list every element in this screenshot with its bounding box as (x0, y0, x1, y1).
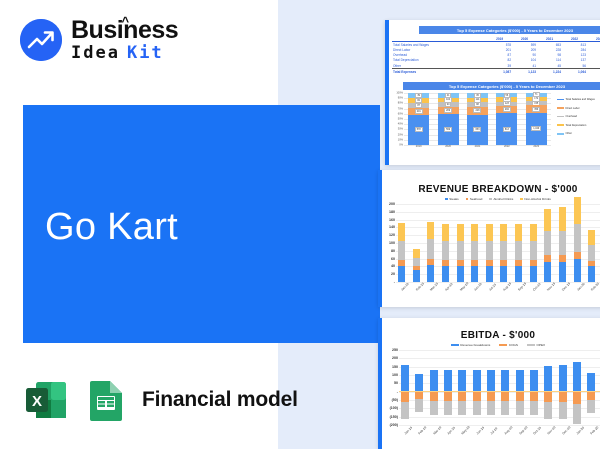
ebitda-chart-title: EBITDA - $'000 (378, 330, 600, 341)
stacked-chart-title: Top 5 Expense Categories ($'000) - 5 Yea… (403, 82, 600, 90)
axis-tick: 20% (398, 133, 403, 136)
ebitda-chart-bars (399, 350, 600, 425)
axis-tick: (100) (390, 406, 398, 410)
axis-tick: 2023 (526, 145, 547, 148)
axis-tick: 0% (399, 144, 403, 147)
legend-label: COGS (509, 343, 518, 347)
stacked-bar (442, 224, 449, 282)
axis-tick: Jan-19 (400, 284, 408, 292)
legend-swatch (499, 344, 507, 346)
axis-tick: May-19 (459, 284, 467, 292)
format-label: Financial model (142, 388, 298, 412)
revenue-chart-x-axis: Jan-19Feb-19Mar-19Apr-19May-19Jun-19Jul-… (396, 282, 600, 288)
ebitda-bar (430, 350, 438, 425)
ebitda-chart-plot: 25020015010050-(50)(100)(150)(200) Jan-1… (382, 350, 600, 449)
axis-tick: 50 (394, 381, 398, 385)
ebitda-bar (587, 350, 595, 425)
axis-tick: 200 (389, 202, 395, 206)
legend-label: Other (566, 132, 573, 135)
legend-label: OPEX (536, 343, 545, 347)
legend-swatch (445, 198, 448, 201)
revenue-chart-area (396, 204, 600, 282)
axis-tick: 140 (389, 225, 395, 229)
legend-item: Steaks (445, 197, 459, 201)
legend-label: Revenue breakdowns (460, 343, 490, 347)
legend-item: Overhead (557, 115, 600, 118)
ebitda-bar (401, 350, 409, 425)
axis-tick: 150 (392, 365, 398, 369)
format-badges: X Financial model (22, 376, 298, 424)
ebitda-bar (444, 350, 452, 425)
legend-item: Other (557, 132, 600, 135)
axis-tick: 10% (398, 138, 403, 141)
legend-swatch (527, 344, 535, 346)
revenue-chart-title: REVENUE BREAKDOWN - $'000 (378, 184, 600, 195)
stacked-bar (515, 224, 522, 282)
ebitda-chart-legend: Revenue breakdownsCOGSOPEX (378, 343, 600, 347)
stacked-bar: 711721553591,029 (526, 93, 547, 145)
axis-tick: 160 (389, 218, 395, 222)
revenue-chart-bars (396, 204, 600, 282)
axis-tick: 2020 (438, 145, 459, 148)
axis-tick: Feb-19 (418, 427, 426, 435)
axis-tick: 80 (391, 249, 395, 253)
stacked-bar: 4511498228653 (467, 93, 488, 145)
axis-tick: Sep-19 (518, 427, 526, 435)
axis-tick: 200 (392, 356, 398, 360)
axis-tick: (150) (390, 415, 398, 419)
legend-item: COGS (499, 343, 518, 347)
ebitda-bar (415, 350, 423, 425)
page-title: Go Kart (45, 206, 178, 249)
expense-categories-card[interactable]: Top 5 Expense Categories ($'000) - 5 Yea… (385, 20, 600, 165)
axis-tick: Mar-19 (432, 427, 440, 435)
bar-value-label: 201 (415, 109, 423, 114)
stacked-bar (500, 224, 507, 282)
brand-name-idea: Idea (71, 45, 120, 62)
stacked-bar (398, 223, 405, 282)
stacked-bar (471, 224, 478, 282)
svg-text:X: X (32, 393, 42, 410)
brand-name-kit: Kit (127, 45, 164, 62)
revenue-chart-y-axis: 20018016014012010080604020- (382, 204, 396, 282)
axis-tick: 2021 (467, 145, 488, 148)
bar-value-label: 228 (473, 108, 481, 113)
axis-tick: 60 (391, 257, 395, 261)
stacked-bar (559, 207, 566, 282)
axis-tick: Jul-19 (488, 284, 496, 292)
axis-tick: Jan-20 (576, 284, 584, 292)
ebitda-bar (516, 350, 524, 425)
axis-tick: 2022 (496, 145, 517, 148)
bar-value-label: 813 (503, 127, 511, 132)
axis-tick: Nov-19 (546, 284, 554, 292)
axis-tick: Jun-19 (475, 427, 483, 435)
axis-tick: Jan-20 (575, 427, 583, 435)
stacked-bar (588, 230, 595, 282)
revenue-breakdown-card[interactable]: REVENUE BREAKDOWN - $'000 SteaksSeaFoodA… (378, 170, 600, 307)
axis-tick: Aug-19 (504, 427, 512, 435)
ebitda-zero-line (399, 391, 600, 392)
legend-item: Direct Labor (557, 107, 600, 110)
brand-name-business: Business ^ (71, 18, 178, 43)
axis-tick: 70% (398, 107, 403, 110)
ebitda-bar (501, 350, 509, 425)
ebitda-bar (458, 350, 466, 425)
legend-item: SeaFood (466, 197, 483, 201)
legend-label: Non-Alcohol Drinks (524, 197, 550, 201)
ebitda-bar (487, 350, 495, 425)
axis-tick: Feb-20 (590, 284, 598, 292)
axis-tick: Feb-19 (415, 284, 423, 292)
legend-item: OPEX (527, 343, 545, 347)
axis-tick: 120 (389, 233, 395, 237)
legend-swatch (557, 107, 564, 109)
legend-swatch (557, 124, 564, 126)
legend-swatch (557, 133, 564, 135)
google-sheets-icon (83, 376, 129, 424)
revenue-chart-legend: SteaksSeaFoodAlcohol DrinksNon-Alcohol D… (378, 197, 600, 201)
brand-logo: Business ^ Idea Kit (20, 18, 178, 62)
card-accent-bar (385, 20, 389, 165)
legend-label: Total Salaries and Wages (566, 98, 595, 101)
axis-tick: Feb-20 (590, 427, 598, 435)
bar-value-label: 653 (473, 127, 481, 132)
bar-value-label: 599 (444, 127, 452, 132)
ebitda-bar (573, 350, 581, 425)
axis-tick: Nov-19 (547, 427, 555, 435)
axis-tick: 80% (398, 102, 403, 105)
poster-canvas: Business ^ Idea Kit Go Kart X (0, 0, 600, 449)
legend-item: Total Salaries and Wages (557, 98, 600, 101)
axis-tick: 2019 (408, 145, 429, 148)
legend-label: Direct Labor (566, 107, 580, 110)
legend-label: Alcohol Drinks (493, 197, 513, 201)
legend-label: Overhead (566, 115, 577, 118)
axis-tick: - (394, 280, 395, 284)
growth-arrow-icon (20, 19, 62, 61)
legend-item: Non-Alcohol Drinks (520, 197, 551, 201)
legend-item: Revenue breakdowns (451, 343, 490, 347)
ebitda-bar (559, 350, 567, 425)
legend-swatch (489, 198, 492, 201)
brand-wordmark: Business ^ Idea Kit (71, 18, 178, 62)
ebitda-bar (544, 350, 552, 425)
axis-tick: 180 (389, 210, 395, 214)
axis-tick: 100 (389, 241, 395, 245)
legend-swatch (557, 116, 564, 118)
axis-tick: Jun-19 (473, 284, 481, 292)
legend-swatch (466, 198, 469, 201)
stacked-bar (574, 197, 581, 282)
stacked-chart-x-axis: 20192020202120222023 (404, 145, 551, 148)
ebitda-chart-y-axis: 25020015010050-(50)(100)(150)(200) (382, 350, 399, 425)
stacked-bar (530, 224, 537, 282)
stacked-bar: 4110490209599 (438, 93, 459, 145)
axis-tick: 20 (391, 272, 395, 276)
stacked-chart-bars: 3982872015784110490209599451149822865356… (404, 93, 551, 145)
legend-label: Total Depreciation (566, 124, 587, 127)
expense-table-title: Top 5 Expense Categories ($'000) - 5 Yea… (419, 26, 600, 34)
axis-tick: 250 (392, 348, 398, 352)
axis-tick: - (397, 390, 398, 394)
bar-value-label: 1,029 (531, 126, 541, 131)
axis-tick: Jul-19 (489, 427, 497, 435)
axis-tick: 90% (398, 97, 403, 100)
legend-item: Total Depreciation (557, 124, 600, 127)
ebitda-card[interactable]: EBITDA - $'000 Revenue breakdownsCOGSOPE… (378, 318, 600, 449)
stacked-bar (427, 222, 434, 282)
ebitda-chart-x-axis: Jan-19Feb-19Mar-19Apr-19May-19Jun-19Jul-… (399, 425, 600, 431)
bar-value-label: 578 (415, 127, 423, 132)
hero-panel: Go Kart (23, 105, 380, 343)
axis-tick: Mar-19 (429, 284, 437, 292)
excel-file-icon: X (22, 376, 70, 424)
expense-table: 20192020202120222023Total Salaries and W… (392, 36, 600, 74)
stacked-bar (486, 224, 493, 282)
axis-tick: (50) (392, 398, 398, 402)
ebitda-bar (473, 350, 481, 425)
circumflex-accent-icon: ^ (122, 15, 129, 28)
legend-label: SeaFood (470, 197, 483, 201)
bar-value-label: 284 (503, 107, 511, 112)
axis-tick: Oct-19 (532, 284, 540, 292)
bar-value-label: 359 (532, 107, 540, 112)
axis-tick: 30% (398, 128, 403, 131)
stacked-bar: 398287201578 (408, 93, 429, 145)
axis-tick: (200) (390, 423, 398, 427)
axis-tick: 50% (398, 118, 403, 121)
stacked-chart-plot: 100%90%80%70%60%50%40%30%20%10%0% 398287… (391, 93, 551, 151)
revenue-chart-plot: 20018016014012010080604020- Jan-19Feb-19… (382, 204, 600, 304)
axis-tick: 100 (392, 373, 398, 377)
axis-tick: Apr-19 (446, 427, 454, 435)
axis-tick: Dec-19 (561, 284, 569, 292)
axis-tick: Oct-19 (532, 427, 540, 435)
ebitda-chart-area (399, 350, 600, 425)
bar-value-label: 209 (444, 108, 452, 113)
legend-swatch (520, 198, 523, 201)
legend-item: Alcohol Drinks (489, 197, 513, 201)
axis-tick: May-19 (461, 427, 469, 435)
axis-tick: Aug-19 (503, 284, 511, 292)
axis-tick: 40% (398, 123, 403, 126)
axis-tick: Sep-19 (517, 284, 525, 292)
axis-tick: Jan-19 (403, 427, 411, 435)
legend-swatch (557, 99, 564, 101)
stacked-bar (457, 224, 464, 282)
axis-tick: 40 (391, 264, 395, 268)
stacked-bar (413, 249, 420, 282)
stacked-chart-legend: Total Salaries and WagesDirect LaborOver… (557, 98, 600, 141)
axis-tick: 60% (398, 112, 403, 115)
axis-tick: Apr-19 (444, 284, 452, 292)
ebitda-bar (530, 350, 538, 425)
axis-tick: Dec-19 (561, 427, 569, 435)
legend-label: Steaks (449, 197, 458, 201)
legend-swatch (451, 344, 459, 346)
stacked-bar (544, 209, 551, 282)
axis-tick: 100% (396, 92, 403, 95)
table-row: Total Expenses1,0871,1231,2241,0641,514 (392, 69, 600, 75)
stacked-chart-y-axis: 100%90%80%70%60%50%40%30%20%10%0% (391, 93, 404, 145)
stacked-bar: 56137123284813 (496, 93, 517, 145)
